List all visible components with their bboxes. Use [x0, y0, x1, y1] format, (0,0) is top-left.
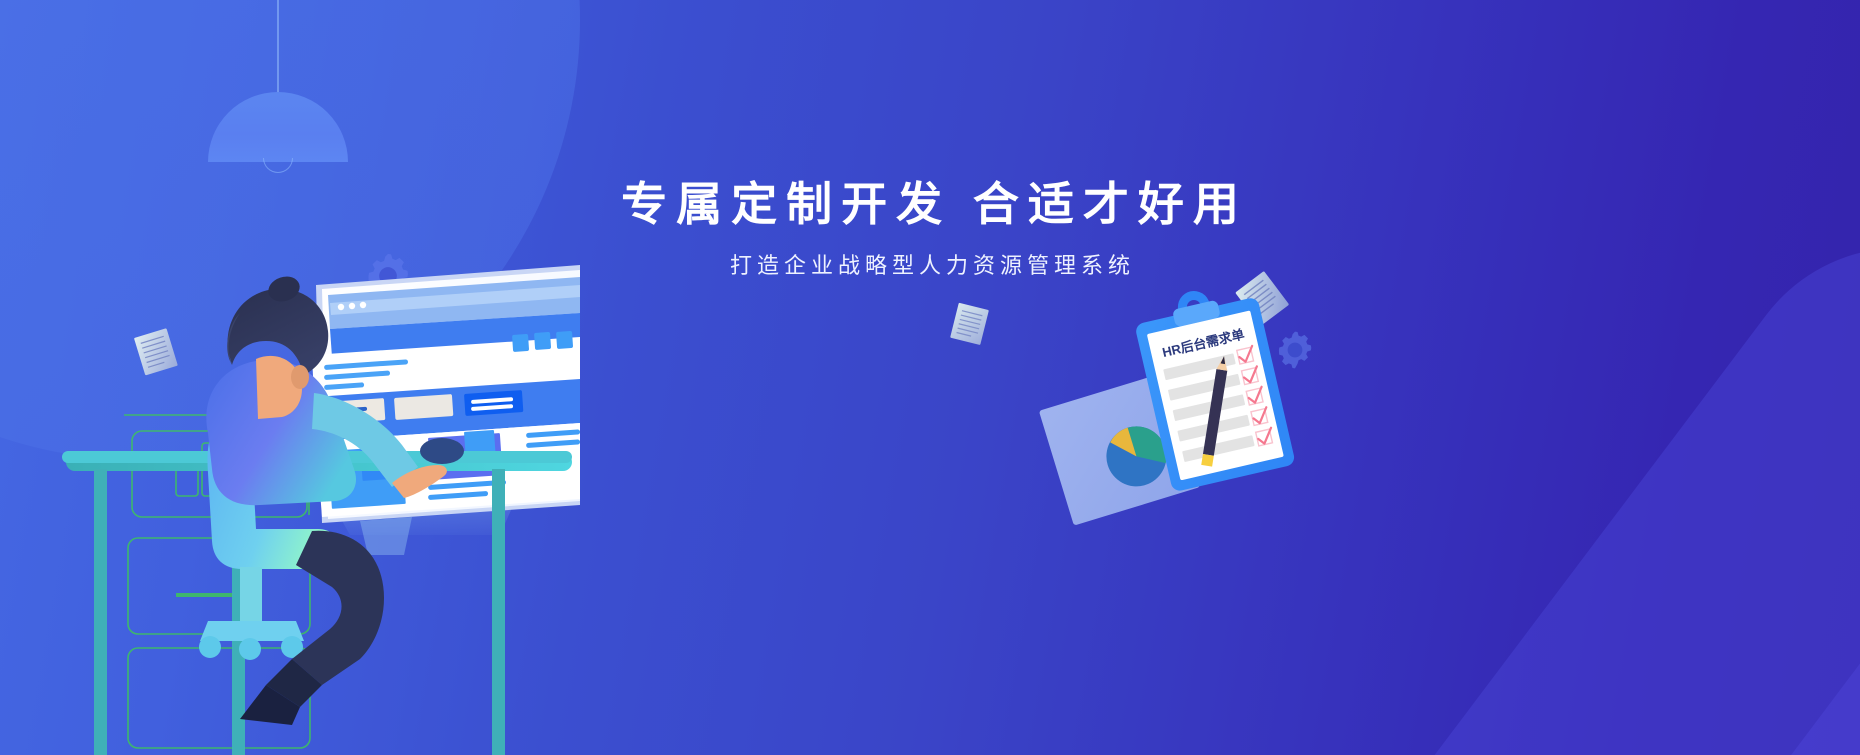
banner-headline: 专属定制开发 合适才好用 [0, 178, 1860, 231]
computer-mouse [420, 438, 464, 464]
lamp-shade [208, 92, 348, 162]
developer-at-desk-illustration [60, 255, 580, 755]
hero-banner: 专属定制开发 合适才好用 打造企业战略型人力资源管理系统 [0, 0, 1860, 755]
paper-note-icon [948, 300, 993, 348]
monitor-stand [360, 517, 412, 555]
hr-clipboard-illustration: HR后台需求单 [1000, 280, 1330, 530]
diagonal-slab-back [1494, 270, 1860, 755]
banner-subheadline: 打造企业战略型人力资源管理系统 [0, 248, 1860, 280]
lamp-bulb [263, 158, 293, 173]
lamp-cord [277, 0, 279, 95]
chair-wheels [199, 636, 303, 660]
headline-block: 专属定制开发 合适才好用 打造企业战略型人力资源管理系统 [0, 178, 1860, 280]
